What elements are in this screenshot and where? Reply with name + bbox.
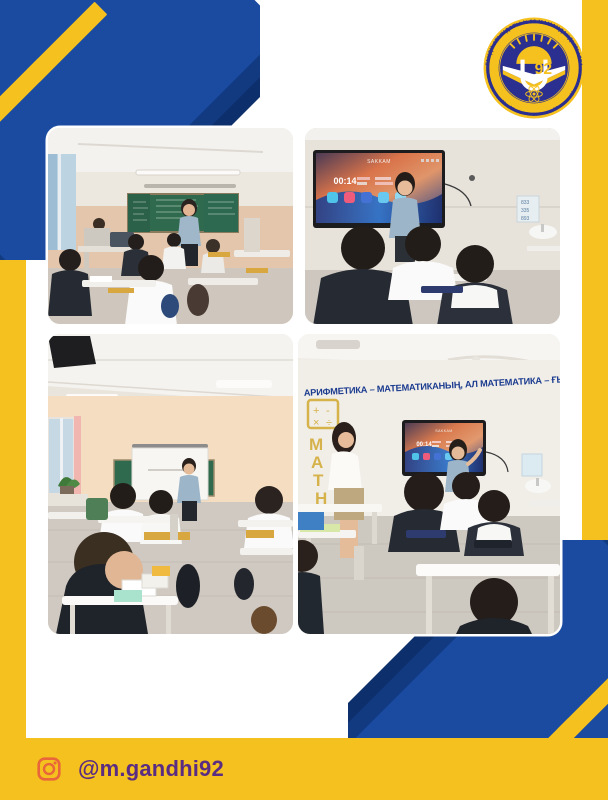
photo-top-left [48, 128, 293, 324]
svg-text:-: - [326, 405, 330, 417]
photo-top-right: SAKKAM 00:14 [305, 128, 560, 324]
footer-bar: @m.gandhi92 [0, 738, 608, 800]
svg-text:А: А [311, 453, 323, 472]
screen-timer: 00:14 [333, 176, 356, 186]
svg-text:×: × [313, 417, 319, 429]
school-emblem-icon: МАХАТМА ГАНДИ АТЫНДАҒЫ №92 МАМАНДАНДЫРЫЛ… [482, 16, 586, 120]
photo-bottom-right: АРИФМЕТИКА – МАТЕМАТИКАНЫҢ, АЛ МАТЕМАТИК… [298, 334, 560, 634]
left-yellow-band [0, 0, 26, 800]
photo-collage: SAKKAM 00:14 [48, 128, 560, 634]
screen-timer-2: 00:14 [416, 442, 432, 448]
photo-bottom-left-image [48, 334, 293, 634]
photo-bottom-right-image: АРИФМЕТИКА – МАТЕМАТИКАНЫҢ, АЛ МАТЕМАТИК… [298, 334, 560, 634]
svg-text:893: 893 [521, 216, 530, 222]
svg-text:335: 335 [521, 208, 530, 214]
svg-text:М: М [309, 435, 323, 454]
corner-stripe-yellow-1 [27, 2, 108, 83]
svg-text:Т: Т [313, 471, 324, 490]
svg-text:833: 833 [521, 200, 530, 206]
svg-text:+: + [313, 405, 319, 417]
poster-canvas: МАХАТМА ГАНДИ АТЫНДАҒЫ №92 МАМАНДАНДЫРЫЛ… [0, 0, 608, 800]
photo-top-right-image: SAKKAM 00:14 [305, 128, 560, 324]
svg-text:÷: ÷ [326, 417, 332, 429]
instagram-icon[interactable] [36, 756, 62, 782]
photo-top-left-image [48, 128, 293, 324]
photo-bottom-left [48, 334, 293, 634]
school-logo: МАХАТМА ГАНДИ АТЫНДАҒЫ №92 МАМАНДАНДЫРЫЛ… [482, 16, 586, 120]
instagram-handle[interactable]: @m.gandhi92 [78, 756, 224, 782]
screen-brand-label: SAKKAM [367, 159, 391, 165]
projector [48, 336, 96, 368]
screen-brand-label-2: SAKKAM [435, 429, 452, 433]
logo-number: 92 [535, 61, 553, 78]
